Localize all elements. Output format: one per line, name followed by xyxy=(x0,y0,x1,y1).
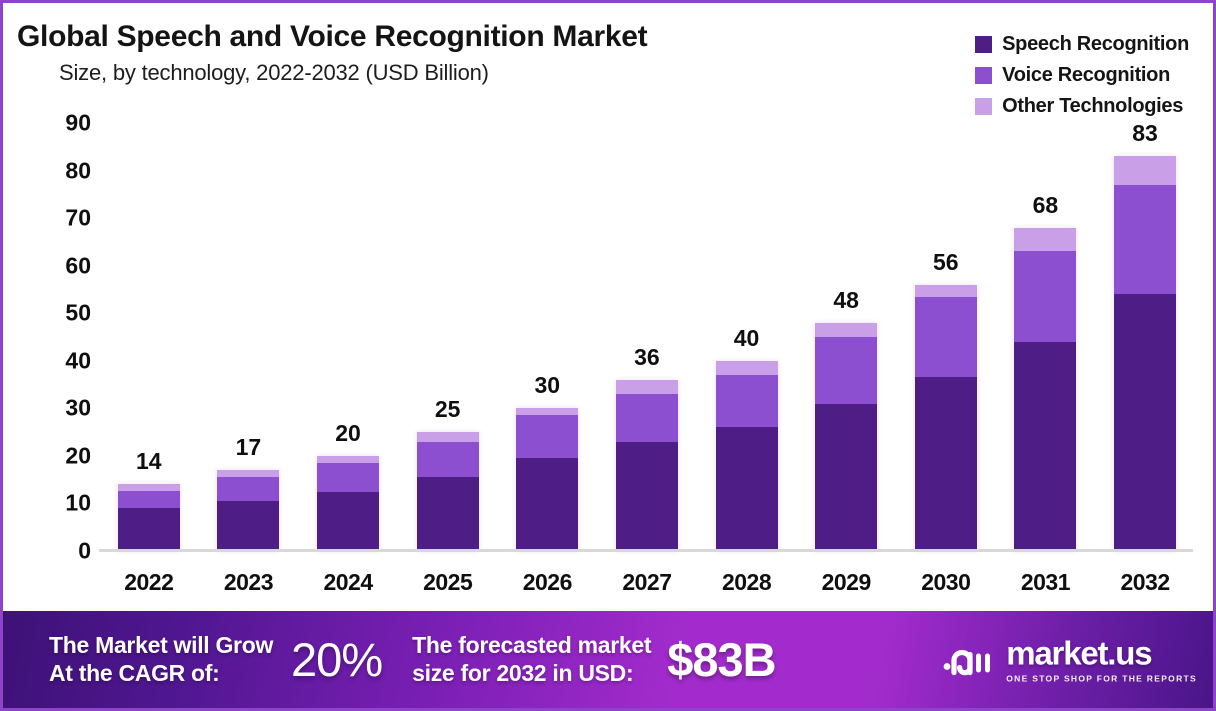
bar-group[interactable]: 25 xyxy=(417,123,479,551)
bar-segment[interactable] xyxy=(915,377,977,551)
bar-group[interactable]: 40 xyxy=(716,123,778,551)
legend-item-label: Speech Recognition xyxy=(1002,33,1189,56)
x-axis-tick-label: 2024 xyxy=(317,569,379,596)
bar-stack[interactable] xyxy=(915,285,977,551)
bar-value-label: 30 xyxy=(535,372,561,399)
bar-segment[interactable] xyxy=(118,491,180,509)
cagr-caption-line2: At the CAGR of: xyxy=(49,660,273,687)
cagr-block: The Market will Grow At the CAGR of: 20% xyxy=(49,632,382,687)
legend-item[interactable]: Voice Recognition xyxy=(975,64,1170,87)
forecast-block: The forecasted market size for 2032 in U… xyxy=(412,632,776,687)
chart-subtitle: Size, by technology, 2022-2032 (USD Bill… xyxy=(59,60,797,86)
bar-segment[interactable] xyxy=(1114,294,1176,551)
logo-text: market.us ONE STOP SHOP FOR THE REPORTS xyxy=(1006,636,1197,683)
bar-segment[interactable] xyxy=(1014,251,1076,341)
bar-segment[interactable] xyxy=(417,432,479,442)
y-axis-tick-label: 60 xyxy=(65,252,91,279)
bar-segment[interactable] xyxy=(915,285,977,297)
forecast-caption-line1: The forecasted market xyxy=(412,632,651,659)
plot-area: 1417202530364048566883 xyxy=(99,123,1195,551)
bar-stack[interactable] xyxy=(516,408,578,551)
footer-banner: The Market will Grow At the CAGR of: 20%… xyxy=(3,611,1213,708)
bar-stack[interactable] xyxy=(217,470,279,551)
x-axis-tick-label: 2029 xyxy=(815,569,877,596)
bar-segment[interactable] xyxy=(516,408,578,415)
bar-value-label: 48 xyxy=(833,287,859,314)
bar-segment[interactable] xyxy=(217,477,279,501)
bar-stack[interactable] xyxy=(317,456,379,551)
forecast-value: $83B xyxy=(667,632,775,687)
x-axis-tick-label: 2025 xyxy=(417,569,479,596)
bar-group[interactable]: 56 xyxy=(915,123,977,551)
forecast-caption: The forecasted market size for 2032 in U… xyxy=(412,632,651,686)
bar-value-label: 40 xyxy=(734,325,760,352)
y-axis-tick-label: 0 xyxy=(78,538,91,565)
bar-segment[interactable] xyxy=(1014,342,1076,551)
y-axis: 0102030405060708090 xyxy=(21,123,95,551)
bar-value-label: 83 xyxy=(1132,120,1158,147)
bar-stack[interactable] xyxy=(616,380,678,551)
infographic-root: Global Speech and Voice Recognition Mark… xyxy=(0,0,1216,711)
x-axis-tick-label: 2030 xyxy=(915,569,977,596)
bar-value-label: 25 xyxy=(435,396,461,423)
x-axis-tick-label: 2027 xyxy=(616,569,678,596)
bar-segment[interactable] xyxy=(815,337,877,404)
bar-segment[interactable] xyxy=(317,492,379,551)
y-axis-tick-label: 40 xyxy=(65,347,91,374)
x-axis-tick-label: 2022 xyxy=(118,569,180,596)
bar-segment[interactable] xyxy=(217,501,279,551)
legend-item[interactable]: Speech Recognition xyxy=(975,33,1189,56)
logo-tagline: ONE STOP SHOP FOR THE REPORTS xyxy=(1006,673,1197,683)
x-axis-tick-label: 2031 xyxy=(1014,569,1076,596)
bar-value-label: 56 xyxy=(933,249,959,276)
y-axis-tick-label: 70 xyxy=(65,205,91,232)
bar-segment[interactable] xyxy=(217,470,279,477)
bar-segment[interactable] xyxy=(616,380,678,394)
cagr-value: 20% xyxy=(291,632,382,687)
market-us-logo[interactable]: market.us ONE STOP SHOP FOR THE REPORTS xyxy=(941,636,1197,683)
forecast-caption-line2: size for 2032 in USD: xyxy=(412,660,651,687)
bar-segment[interactable] xyxy=(616,442,678,551)
bar-group[interactable]: 36 xyxy=(616,123,678,551)
bar-segment[interactable] xyxy=(815,323,877,337)
bar-segment[interactable] xyxy=(716,427,778,551)
logo-wordmark: market.us xyxy=(1006,636,1197,669)
bar-value-label: 17 xyxy=(236,434,262,461)
y-axis-tick-label: 50 xyxy=(65,300,91,327)
bar-segment[interactable] xyxy=(516,458,578,551)
bar-stack[interactable] xyxy=(417,432,479,551)
bar-series-container: 1417202530364048566883 xyxy=(99,123,1195,551)
bar-segment[interactable] xyxy=(317,463,379,492)
bar-group[interactable]: 48 xyxy=(815,123,877,551)
y-axis-tick-label: 10 xyxy=(65,490,91,517)
bar-segment[interactable] xyxy=(716,361,778,375)
legend-item-label: Other Technologies xyxy=(1002,95,1183,118)
x-axis-line xyxy=(99,549,1193,552)
y-axis-tick-label: 30 xyxy=(65,395,91,422)
bar-segment[interactable] xyxy=(1114,156,1176,185)
bar-stack[interactable] xyxy=(1014,228,1076,551)
bar-segment[interactable] xyxy=(1114,185,1176,294)
page-title: Global Speech and Voice Recognition Mark… xyxy=(17,21,797,53)
bar-group[interactable]: 17 xyxy=(217,123,279,551)
legend-item[interactable]: Other Technologies xyxy=(975,95,1183,118)
x-axis: 2022202320242025202620272028202920302031… xyxy=(99,565,1195,599)
cagr-caption: The Market will Grow At the CAGR of: xyxy=(49,632,273,686)
bar-group[interactable]: 68 xyxy=(1014,123,1076,551)
legend-item-label: Voice Recognition xyxy=(1002,64,1170,87)
bar-stack[interactable] xyxy=(118,484,180,551)
bar-segment[interactable] xyxy=(1014,228,1076,252)
chart-legend: Speech RecognitionVoice RecognitionOther… xyxy=(975,33,1189,118)
bar-value-label: 20 xyxy=(335,420,361,447)
legend-swatch-icon xyxy=(975,36,992,53)
bar-segment[interactable] xyxy=(716,375,778,427)
bar-group[interactable]: 83 xyxy=(1114,123,1176,551)
legend-swatch-icon xyxy=(975,67,992,84)
y-axis-tick-label: 20 xyxy=(65,442,91,469)
bar-segment[interactable] xyxy=(417,442,479,478)
bar-group[interactable]: 30 xyxy=(516,123,578,551)
bar-segment[interactable] xyxy=(118,508,180,551)
x-axis-tick-label: 2028 xyxy=(716,569,778,596)
bar-stack[interactable] xyxy=(716,361,778,551)
market-us-glyph-icon xyxy=(941,640,997,680)
bar-segment[interactable] xyxy=(915,297,977,378)
x-axis-tick-label: 2032 xyxy=(1114,569,1176,596)
bar-segment[interactable] xyxy=(616,394,678,442)
bar-value-label: 36 xyxy=(634,344,660,371)
bar-value-label: 68 xyxy=(1033,192,1059,219)
x-axis-tick-label: 2026 xyxy=(516,569,578,596)
bar-segment[interactable] xyxy=(516,415,578,458)
bar-segment[interactable] xyxy=(815,404,877,551)
bar-value-label: 14 xyxy=(136,448,162,475)
bar-segment[interactable] xyxy=(417,477,479,551)
cagr-caption-line1: The Market will Grow xyxy=(49,632,273,659)
x-axis-tick-label: 2023 xyxy=(217,569,279,596)
bar-stack[interactable] xyxy=(1114,156,1176,551)
bar-group[interactable]: 14 xyxy=(118,123,180,551)
bar-stack[interactable] xyxy=(815,323,877,551)
bar-segment[interactable] xyxy=(317,456,379,463)
y-axis-tick-label: 90 xyxy=(65,110,91,137)
bar-group[interactable]: 20 xyxy=(317,123,379,551)
y-axis-tick-label: 80 xyxy=(65,157,91,184)
legend-swatch-icon xyxy=(975,98,992,115)
header: Global Speech and Voice Recognition Mark… xyxy=(17,21,797,86)
